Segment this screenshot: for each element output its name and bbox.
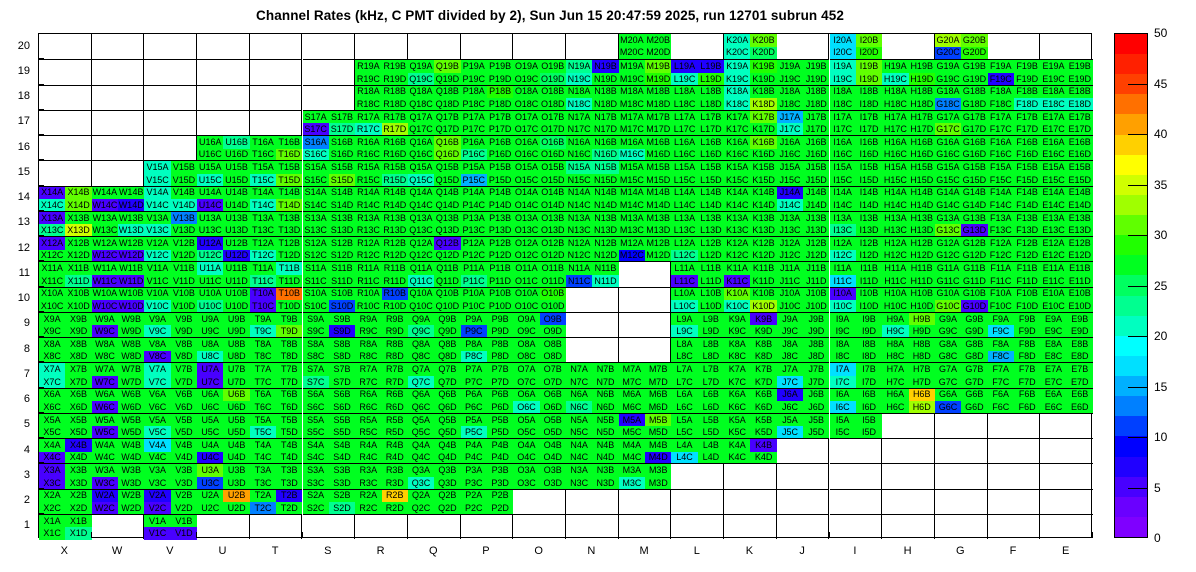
grid-cell[interactable]: W7AW7BW7CW7D	[92, 362, 145, 387]
channel-cell[interactable]: E10A	[1040, 288, 1066, 301]
channel-cell[interactable]: M6B	[645, 389, 671, 402]
channel-cell[interactable]: L7B	[698, 363, 724, 376]
channel-cell[interactable]: T3A	[250, 464, 276, 477]
grid-cell[interactable]	[882, 489, 935, 514]
channel-cell[interactable]: N6A	[566, 389, 592, 402]
channel-cell[interactable]: W6B	[118, 389, 144, 402]
grid-cell[interactable]: X5AX5BX5CX5D	[39, 413, 92, 438]
channel-cell[interactable]: H12B	[909, 237, 935, 250]
channel-cell[interactable]: J7A	[777, 363, 803, 376]
channel-cell[interactable]: P18B	[487, 86, 513, 99]
channel-cell[interactable]: P14A	[461, 187, 487, 200]
channel-cell[interactable]: J12B	[803, 237, 829, 250]
grid-cell[interactable]: R5AR5BR5CR5D	[355, 413, 408, 438]
grid-cell[interactable]: V13AV13BV13CV13D	[144, 211, 197, 236]
grid-cell[interactable]: R6AR6BR6CR6D	[355, 388, 408, 413]
grid-cell[interactable]: F7AF7BF7CF7D	[988, 362, 1041, 387]
channel-cell[interactable]: E11B	[1067, 262, 1093, 275]
channel-cell[interactable]: K13A	[724, 212, 750, 225]
channel-cell[interactable]: P3B	[487, 464, 513, 477]
grid-cell[interactable]: I16AI16BI16CI16D	[830, 135, 883, 160]
grid-cell[interactable]: U9AU9BU9CU9D	[197, 312, 250, 337]
grid-cell[interactable]: E14AE14BE14CE14D	[1040, 186, 1093, 211]
channel-cell[interactable]: I17A	[830, 111, 856, 124]
grid-cell[interactable]: G15AG15BG15CG15D	[935, 160, 988, 185]
channel-cell[interactable]: L5A	[671, 414, 697, 427]
channel-cell[interactable]: Q10B	[434, 288, 460, 301]
grid-cell[interactable]: F9AF9BF9CF9D	[988, 312, 1041, 337]
channel-cell[interactable]: O7B	[540, 363, 566, 376]
grid-cell[interactable]	[1040, 463, 1093, 488]
channel-cell[interactable]: J15B	[803, 161, 829, 174]
grid-cell[interactable]: X4AX4BX4CX4D	[39, 438, 92, 463]
channel-cell[interactable]: N12A	[566, 237, 592, 250]
grid-cell[interactable]: U6AU6BU6CU6D	[197, 388, 250, 413]
channel-cell[interactable]: M18A	[619, 86, 645, 99]
grid-cell[interactable]: H6AH6BH6CH6D	[882, 388, 935, 413]
grid-cell[interactable]: P3AP3BP3CP3D	[461, 463, 514, 488]
channel-cell[interactable]: F19B	[1014, 60, 1040, 73]
channel-cell[interactable]: U2A	[197, 490, 223, 503]
channel-cell[interactable]: G8A	[935, 338, 961, 351]
channel-cell[interactable]: L7A	[671, 363, 697, 376]
channel-cell[interactable]: X9B	[65, 313, 91, 326]
channel-cell[interactable]: S15B	[329, 161, 355, 174]
grid-cell[interactable]	[566, 337, 619, 362]
channel-cell[interactable]: N17A	[566, 111, 592, 124]
grid-cell[interactable]: P9AP9BP9CP9D	[461, 312, 514, 337]
channel-cell[interactable]: I9A	[830, 313, 856, 326]
channel-cell[interactable]: N3A	[566, 464, 592, 477]
grid-cell[interactable]: P11AP11BP11CP11D	[461, 261, 514, 286]
grid-cell[interactable]: Q9AQ9BQ9CQ9D	[408, 312, 461, 337]
channel-cell[interactable]: U13B	[223, 212, 249, 225]
channel-cell[interactable]: Q17A	[408, 111, 434, 124]
grid-cell[interactable]: X13AX13BX13CX13D	[39, 211, 92, 236]
grid-cell[interactable]: H19AH19BH19CH19D	[882, 59, 935, 84]
grid-cell[interactable]: R7AR7BR7CR7D	[355, 362, 408, 387]
grid-cell[interactable]: V6AV6BV6CV6D	[144, 388, 197, 413]
channel-cell[interactable]: J11A	[777, 262, 803, 275]
grid-cell[interactable]: W12AW12BW12CW12D	[92, 236, 145, 261]
channel-cell[interactable]: Q11A	[408, 262, 434, 275]
channel-cell[interactable]: R9B	[382, 313, 408, 326]
channel-cell[interactable]: P2B	[487, 490, 513, 503]
channel-cell[interactable]: X4B	[65, 439, 91, 452]
channel-cell[interactable]: Q5B	[434, 414, 460, 427]
channel-cell[interactable]: E8A	[1040, 338, 1066, 351]
grid-cell[interactable]: Q5AQ5BQ5CQ5D	[408, 413, 461, 438]
channel-cell[interactable]: K4B	[750, 439, 776, 452]
channel-cell[interactable]: S5B	[329, 414, 355, 427]
channel-cell[interactable]: G8B	[961, 338, 987, 351]
channel-cell[interactable]: W13A	[92, 212, 118, 225]
grid-cell[interactable]: I10AI10BI10CI10D	[830, 287, 883, 312]
grid-cell[interactable]: X7AX7BX7CX7D	[39, 362, 92, 387]
channel-cell[interactable]: V2A	[144, 490, 170, 503]
channel-cell[interactable]: F17A	[988, 111, 1014, 124]
grid-cell[interactable]: H8AH8BH8CH8D	[882, 337, 935, 362]
channel-cell[interactable]: L19A	[671, 60, 697, 73]
grid-cell[interactable]	[144, 135, 197, 160]
channel-cell[interactable]: I18A	[830, 86, 856, 99]
grid-cell[interactable]: V10AV10BV10CV10D	[144, 287, 197, 312]
grid-cell[interactable]: P8AP8BP8CP8D	[461, 337, 514, 362]
grid-cell[interactable]: T13AT13BT13CT13D	[250, 211, 303, 236]
grid-cell[interactable]: T15AT15BT15CT15D	[250, 160, 303, 185]
grid-cell[interactable]	[92, 160, 145, 185]
channel-cell[interactable]: R15A	[355, 161, 381, 174]
channel-cell[interactable]: E19B	[1067, 60, 1093, 73]
channel-cell[interactable]: I6A	[830, 389, 856, 402]
channel-cell[interactable]: W6A	[92, 389, 118, 402]
channel-cell[interactable]: U16A	[197, 136, 223, 149]
channel-cell[interactable]: H14B	[909, 187, 935, 200]
grid-cell[interactable]: O15AO15BO15CO15D	[513, 160, 566, 185]
grid-cell[interactable]	[92, 85, 145, 110]
grid-cell[interactable]: V9AV9BV9CV9D	[144, 312, 197, 337]
channel-cell[interactable]: N17B	[592, 111, 618, 124]
channel-cell[interactable]: E16B	[1067, 136, 1093, 149]
grid-cell[interactable]: O11AO11BO11CO11D	[513, 261, 566, 286]
channel-cell[interactable]: Q8B	[434, 338, 460, 351]
channel-cell[interactable]: T11A	[250, 262, 276, 275]
grid-cell[interactable]	[882, 34, 935, 59]
channel-cell[interactable]: Q16A	[408, 136, 434, 149]
grid-cell[interactable]: Q16AQ16BQ16CQ16D	[408, 135, 461, 160]
channel-cell[interactable]: W9B	[118, 313, 144, 326]
channel-cell[interactable]: S4A	[303, 439, 329, 452]
grid-cell[interactable]	[724, 489, 777, 514]
channel-cell[interactable]: R18A	[355, 86, 381, 99]
channel-cell[interactable]: K19B	[750, 60, 776, 73]
channel-cell[interactable]: L11A	[671, 262, 697, 275]
channel-cell[interactable]: S6A	[303, 389, 329, 402]
channel-cell[interactable]: J9A	[777, 313, 803, 326]
channel-cell[interactable]: W8A	[92, 338, 118, 351]
grid-cell[interactable]: N4AN4BN4CN4D	[566, 438, 619, 463]
grid-cell[interactable]: N18AN18BN18CN18D	[566, 85, 619, 110]
grid-cell[interactable]: J17AJ17BJ17CJ17D	[777, 110, 830, 135]
grid-cell[interactable]: S7AS7BS7CS7D	[303, 362, 356, 387]
grid-cell[interactable]: P16AP16BP16CP16D	[461, 135, 514, 160]
channel-cell[interactable]: M12B	[645, 237, 671, 250]
channel-cell[interactable]: I16B	[856, 136, 882, 149]
channel-cell[interactable]: G6B	[961, 389, 987, 402]
grid-cell[interactable]: L16AL16BL16CL16D	[671, 135, 724, 160]
channel-cell[interactable]: M18B	[645, 86, 671, 99]
grid-cell[interactable]	[671, 34, 724, 59]
channel-cell[interactable]: O18B	[540, 86, 566, 99]
channel-cell[interactable]: S8B	[329, 338, 355, 351]
channel-cell[interactable]: H8A	[882, 338, 908, 351]
channel-cell[interactable]: V12B	[171, 237, 197, 250]
grid-cell[interactable]: S9AS9BS9CS9D	[303, 312, 356, 337]
grid-cell[interactable]: S12AS12BS12CS12D	[303, 236, 356, 261]
channel-cell[interactable]: R8B	[382, 338, 408, 351]
channel-cell[interactable]: G12B	[961, 237, 987, 250]
channel-cell[interactable]: T8A	[250, 338, 276, 351]
grid-cell[interactable]: U8AU8BU8CU8D	[197, 337, 250, 362]
channel-cell[interactable]: Q3A	[408, 464, 434, 477]
channel-cell[interactable]: V11B	[171, 262, 197, 275]
grid-cell[interactable]: H10AH10BH10CH10D	[882, 287, 935, 312]
grid-cell[interactable]: N11AN11BN11CN11D	[566, 261, 619, 286]
channel-cell[interactable]: K8A	[724, 338, 750, 351]
channel-cell[interactable]: T10A	[250, 288, 276, 301]
channel-cell[interactable]: R4B	[382, 439, 408, 452]
channel-cell[interactable]: J8A	[777, 338, 803, 351]
channel-cell[interactable]: W4B	[118, 439, 144, 452]
grid-cell[interactable]: Q8AQ8BQ8CQ8D	[408, 337, 461, 362]
channel-cell[interactable]: P11B	[487, 262, 513, 275]
grid-cell[interactable]: X9AX9BX9CX9D	[39, 312, 92, 337]
channel-cell[interactable]: U4B	[223, 439, 249, 452]
channel-cell[interactable]: Q3B	[434, 464, 460, 477]
channel-cell[interactable]: R14A	[355, 187, 381, 200]
grid-cell[interactable]: E11AE11BE11CE11D	[1040, 261, 1093, 286]
grid-cell[interactable]: N17AN17BN17CN17D	[566, 110, 619, 135]
channel-cell[interactable]: M19A	[619, 60, 645, 73]
channel-cell[interactable]: V11A	[144, 262, 170, 275]
channel-cell[interactable]: R5B	[382, 414, 408, 427]
channel-cell[interactable]: S12B	[329, 237, 355, 250]
grid-cell[interactable]: U13AU13BU13CU13D	[197, 211, 250, 236]
detector-heatmap[interactable]: M20AM20BM20CM20DK20AK20BK20CK20DI20AI20B…	[38, 33, 1092, 538]
channel-cell[interactable]: J17B	[803, 111, 829, 124]
channel-cell[interactable]: H7A	[882, 363, 908, 376]
grid-cell[interactable]: F6AF6BF6CF6D	[988, 388, 1041, 413]
channel-cell[interactable]: I20D	[856, 47, 882, 60]
grid-cell[interactable]: K14AK14BK14CK14D	[724, 186, 777, 211]
grid-cell[interactable]	[1040, 438, 1093, 463]
channel-cell[interactable]: Q2A	[408, 490, 434, 503]
grid-cell[interactable]: W3AW3BW3CW3D	[92, 463, 145, 488]
channel-cell[interactable]: H16B	[909, 136, 935, 149]
channel-cell[interactable]: L9A	[671, 313, 697, 326]
channel-cell[interactable]: P19B	[487, 60, 513, 73]
channel-cell[interactable]: U4A	[197, 439, 223, 452]
channel-cell[interactable]: Q4A	[408, 439, 434, 452]
channel-cell[interactable]: O15A	[513, 161, 539, 174]
channel-cell[interactable]: Q18B	[434, 86, 460, 99]
grid-cell[interactable]	[197, 59, 250, 84]
grid-cell[interactable]: H7AH7BH7CH7D	[882, 362, 935, 387]
grid-cell[interactable]: X1AX1BX1CX1D	[39, 514, 92, 539]
channel-cell[interactable]: Q12B	[434, 237, 460, 250]
grid-cell[interactable]: R13AR13BR13CR13D	[355, 211, 408, 236]
grid-cell[interactable]	[303, 34, 356, 59]
channel-cell[interactable]: R9A	[355, 313, 381, 326]
channel-cell[interactable]: M3B	[645, 464, 671, 477]
channel-cell[interactable]: Q15B	[434, 161, 460, 174]
channel-cell[interactable]: E15B	[1067, 161, 1093, 174]
channel-cell[interactable]: S17A	[303, 111, 329, 124]
channel-cell[interactable]: I19A	[830, 60, 856, 73]
grid-cell[interactable]: T2AT2BT2CT2D	[250, 489, 303, 514]
channel-cell[interactable]: N11B	[592, 262, 618, 275]
channel-cell[interactable]: S3B	[329, 464, 355, 477]
grid-cell[interactable]: R11AR11BR11CR11D	[355, 261, 408, 286]
channel-cell[interactable]: J5A	[777, 414, 803, 427]
channel-cell[interactable]: R17B	[382, 111, 408, 124]
channel-cell[interactable]: K15B	[750, 161, 776, 174]
channel-cell[interactable]: V10A	[144, 288, 170, 301]
channel-cell[interactable]: L12B	[698, 237, 724, 250]
channel-cell[interactable]: Q7B	[434, 363, 460, 376]
channel-cell[interactable]: P5A	[461, 414, 487, 427]
grid-cell[interactable]: K18AK18BK18CK18D	[724, 85, 777, 110]
grid-cell[interactable]: Q3AQ3BQ3CQ3D	[408, 463, 461, 488]
channel-cell[interactable]: T6A	[250, 389, 276, 402]
channel-cell[interactable]: K14A	[724, 187, 750, 200]
grid-cell[interactable]: P4AP4BP4CP4D	[461, 438, 514, 463]
channel-cell[interactable]: V6A	[144, 389, 170, 402]
channel-cell[interactable]: N3B	[592, 464, 618, 477]
channel-cell[interactable]: F11B	[1014, 262, 1040, 275]
channel-cell[interactable]: S9B	[329, 313, 355, 326]
channel-cell[interactable]: O4A	[513, 439, 539, 452]
channel-cell[interactable]: L5B	[698, 414, 724, 427]
grid-cell[interactable]: G10AG10BG10CG10D	[935, 287, 988, 312]
grid-cell[interactable]: I12AI12BI12CI12D	[830, 236, 883, 261]
channel-cell[interactable]: H15A	[882, 161, 908, 174]
grid-cell[interactable]	[197, 85, 250, 110]
grid-cell[interactable]: J10AJ10BJ10CJ10D	[777, 287, 830, 312]
channel-cell[interactable]: O16B	[540, 136, 566, 149]
channel-cell[interactable]: W12B	[118, 237, 144, 250]
channel-cell[interactable]: O4B	[540, 439, 566, 452]
grid-cell[interactable]: H18AH18BH18CH18D	[882, 85, 935, 110]
channel-cell[interactable]: E15A	[1040, 161, 1066, 174]
channel-cell[interactable]: H17B	[909, 111, 935, 124]
channel-cell[interactable]: R6B	[382, 389, 408, 402]
grid-cell[interactable]: N19AN19BN19CN19D	[566, 59, 619, 84]
grid-cell[interactable]	[777, 438, 830, 463]
grid-cell[interactable]: W4AW4BW4CW4D	[92, 438, 145, 463]
channel-cell[interactable]: P8B	[487, 338, 513, 351]
grid-cell[interactable]: I14AI14BI14CI14D	[830, 186, 883, 211]
grid-cell[interactable]	[619, 337, 672, 362]
channel-cell[interactable]: X6B	[65, 389, 91, 402]
grid-cell[interactable]	[513, 514, 566, 539]
channel-cell[interactable]: F16A	[988, 136, 1014, 149]
channel-cell[interactable]: I7B	[856, 363, 882, 376]
channel-cell[interactable]: T7A	[250, 363, 276, 376]
channel-cell[interactable]: U15B	[223, 161, 249, 174]
channel-cell[interactable]: J6B	[803, 389, 829, 402]
channel-cell[interactable]: L13A	[671, 212, 697, 225]
channel-cell[interactable]: V5A	[144, 414, 170, 427]
channel-cell[interactable]: N19B	[592, 60, 618, 73]
channel-cell[interactable]: K4A	[724, 439, 750, 452]
channel-cell[interactable]: H19B	[909, 60, 935, 73]
grid-cell[interactable]	[39, 110, 92, 135]
grid-cell[interactable]: S13AS13BS13CS13D	[303, 211, 356, 236]
channel-cell[interactable]: H11B	[909, 262, 935, 275]
grid-cell[interactable]: T11AT11BT11CT11D	[250, 261, 303, 286]
channel-cell[interactable]: P18A	[461, 86, 487, 99]
grid-cell[interactable]: L12AL12BL12CL12D	[671, 236, 724, 261]
channel-cell[interactable]: Q16B	[434, 136, 460, 149]
channel-cell[interactable]: M5A	[619, 414, 645, 427]
channel-cell[interactable]: V4A	[144, 439, 170, 452]
channel-cell[interactable]: G10B	[961, 288, 987, 301]
grid-cell[interactable]: O3AO3BO3CO3D	[513, 463, 566, 488]
grid-cell[interactable]: S5AS5BS5CS5D	[303, 413, 356, 438]
channel-cell[interactable]: M17A	[619, 111, 645, 124]
channel-cell[interactable]: T9A	[250, 313, 276, 326]
channel-cell[interactable]: N7A	[566, 363, 592, 376]
channel-cell[interactable]: I12A	[830, 237, 856, 250]
channel-cell[interactable]: J18A	[777, 86, 803, 99]
grid-cell[interactable]: O19AO19BO19CO19D	[513, 59, 566, 84]
grid-cell[interactable]	[303, 59, 356, 84]
channel-cell[interactable]: N18A	[566, 86, 592, 99]
channel-cell[interactable]: M15B	[645, 161, 671, 174]
grid-cell[interactable]	[935, 413, 988, 438]
channel-cell[interactable]: X10B	[65, 288, 91, 301]
grid-cell[interactable]: G14AG14BG14CG14D	[935, 186, 988, 211]
channel-cell[interactable]: E13A	[1040, 212, 1066, 225]
channel-cell[interactable]: F18A	[988, 86, 1014, 99]
channel-cell[interactable]: I13A	[830, 212, 856, 225]
channel-cell[interactable]: M4A	[619, 439, 645, 452]
grid-cell[interactable]: K15AK15BK15CK15D	[724, 160, 777, 185]
channel-cell[interactable]: J11B	[803, 262, 829, 275]
channel-cell[interactable]: S13A	[303, 212, 329, 225]
channel-cell[interactable]: F7B	[1014, 363, 1040, 376]
channel-cell[interactable]: X3B	[65, 464, 91, 477]
channel-cell[interactable]: Q12A	[408, 237, 434, 250]
channel-cell[interactable]: N15B	[592, 161, 618, 174]
grid-cell[interactable]: F16AF16BF16CF16D	[988, 135, 1041, 160]
grid-cell[interactable]	[1040, 489, 1093, 514]
channel-cell[interactable]: H16A	[882, 136, 908, 149]
channel-cell[interactable]: O18A	[513, 86, 539, 99]
channel-cell[interactable]: H15B	[909, 161, 935, 174]
grid-cell[interactable]: M13AM13BM13CM13D	[619, 211, 672, 236]
channel-cell[interactable]: F6A	[988, 389, 1014, 402]
grid-cell[interactable]: N5AN5BN5CN5D	[566, 413, 619, 438]
channel-cell[interactable]: L10B	[698, 288, 724, 301]
grid-cell[interactable]: V14AV14BV14CV14D	[144, 186, 197, 211]
grid-cell[interactable]	[777, 34, 830, 59]
grid-cell[interactable]	[988, 34, 1041, 59]
channel-cell[interactable]: X11A	[39, 262, 65, 275]
grid-cell[interactable]	[92, 514, 145, 539]
channel-cell[interactable]: S10B	[329, 288, 355, 301]
channel-cell[interactable]: M3A	[619, 464, 645, 477]
channel-cell[interactable]: P6B	[487, 389, 513, 402]
grid-cell[interactable]: F14AF14BF14CF14D	[988, 186, 1041, 211]
channel-cell[interactable]: E11A	[1040, 262, 1066, 275]
grid-cell[interactable]	[671, 514, 724, 539]
channel-cell[interactable]: T12A	[250, 237, 276, 250]
channel-cell[interactable]: G11A	[935, 262, 961, 275]
channel-cell[interactable]: K9A	[724, 313, 750, 326]
grid-cell[interactable]: L4AL4BL4CL4D	[671, 438, 724, 463]
channel-cell[interactable]: V13A	[144, 212, 170, 225]
channel-cell[interactable]: R15B	[382, 161, 408, 174]
grid-cell[interactable]: H16AH16BH16CH16D	[882, 135, 935, 160]
channel-cell[interactable]: S6B	[329, 389, 355, 402]
grid-cell[interactable]: P15AP15BP15CP15D	[461, 160, 514, 185]
channel-cell[interactable]: S12A	[303, 237, 329, 250]
channel-cell[interactable]: K7B	[750, 363, 776, 376]
grid-cell[interactable]: S16AS16BS16CS16D	[303, 135, 356, 160]
channel-cell[interactable]: K8B	[750, 338, 776, 351]
